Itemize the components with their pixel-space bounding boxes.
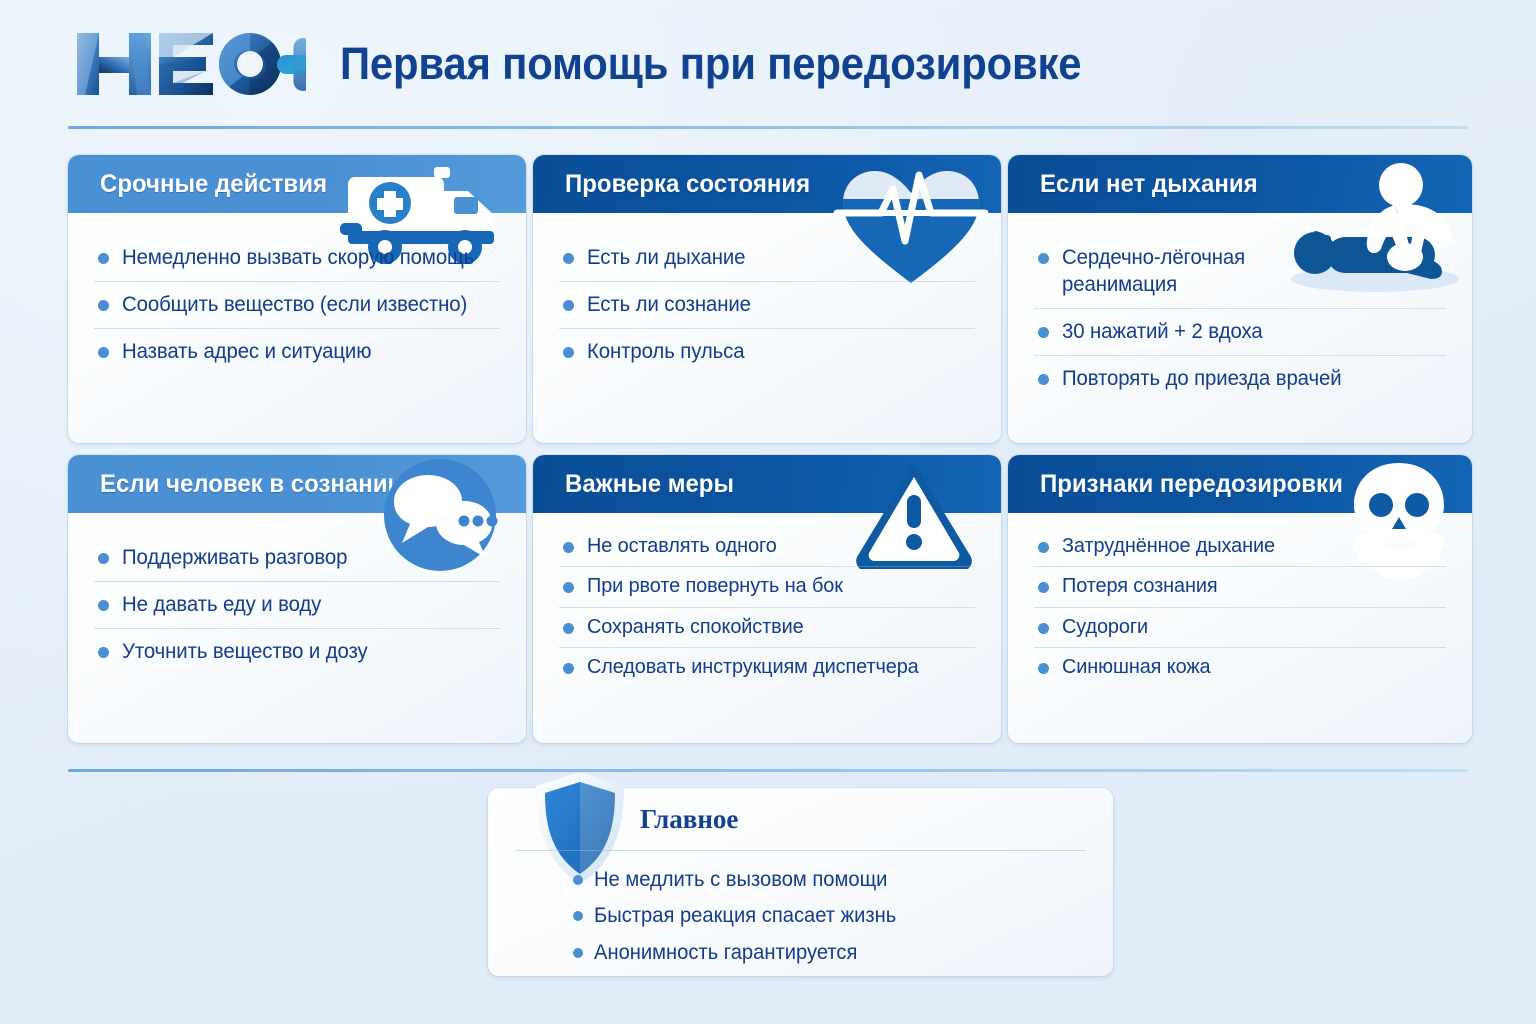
list-item: Следовать инструкциям диспетчера: [559, 648, 975, 687]
card-title: Если человек в сознании: [100, 470, 402, 499]
header-divider: [68, 126, 1468, 129]
list-item: Анонимность гарантируется: [573, 935, 1093, 971]
bullet-icon: [563, 582, 574, 593]
bullet-icon: [563, 542, 574, 553]
list-item: Сохранять спокойствие: [559, 608, 975, 648]
list-item-text: Судороги: [1062, 614, 1148, 640]
card-urgent-actions: Срочные действия: [68, 155, 526, 443]
list-item: Не оставлять одного: [559, 527, 975, 567]
card-status-check: Проверка состояния Есть ли дыхание Есть …: [533, 155, 1001, 443]
bullet-icon: [573, 911, 583, 921]
bullet-icon: [98, 347, 109, 358]
bullet-icon: [563, 300, 574, 311]
card-title: Если нет дыхания: [1040, 170, 1258, 199]
list-item-text: Повторять до приезда врачей: [1062, 365, 1342, 392]
list-item-text: Уточнить вещество и дозу: [122, 638, 368, 665]
bullet-icon: [563, 663, 574, 674]
bullet-icon: [98, 253, 109, 264]
bullet-icon: [563, 253, 574, 264]
card-body: Сердечно-лёгочная реанимация 30 нажатий …: [1008, 213, 1472, 412]
bullet-icon: [98, 553, 109, 564]
list-item: Не медлить с вызовом помощи: [573, 862, 1093, 898]
list-item-text: Анонимность гарантируется: [594, 939, 857, 966]
list-item: Потеря сознания: [1034, 567, 1446, 607]
list-item-text: Следовать инструкциям диспетчера: [587, 654, 919, 680]
card-header: Если человек в сознании: [68, 455, 526, 513]
card-header: Если нет дыхания: [1008, 155, 1472, 213]
card-grid: Срочные действия: [68, 155, 1472, 743]
list-item: Сообщить вещество (если известно): [94, 282, 500, 329]
list-item-text: При рвоте повернуть на бок: [587, 573, 843, 599]
bullet-icon: [573, 948, 583, 958]
page-header: Первая помощь при передозировке: [0, 0, 1536, 128]
heo-plus-logo: [74, 27, 306, 101]
bullet-icon: [1038, 327, 1049, 338]
card-title: Признаки передозировки: [1040, 470, 1343, 499]
list-item: 30 нажатий + 2 вдоха: [1034, 309, 1446, 356]
card-body: Не оставлять одного При рвоте повернуть …: [533, 513, 1001, 698]
card-body: Немедленно вызвать скорую помощь Сообщит…: [68, 213, 526, 385]
list-item-text: Затруднённое дыхание: [1062, 533, 1275, 559]
card-header: Срочные действия: [68, 155, 526, 213]
list-item-text: Есть ли дыхание: [587, 244, 745, 271]
list-item: Назвать адрес и ситуацию: [94, 329, 500, 375]
bullet-icon: [98, 647, 109, 658]
list-item-text: Есть ли сознание: [587, 291, 751, 318]
card-header: Признаки передозировки: [1008, 455, 1472, 513]
summary-panel: Главное Не медлить с вызовом помощи Быст…: [488, 788, 1113, 976]
list-item-text: Сообщить вещество (если известно): [122, 291, 467, 318]
list-item: Судороги: [1034, 608, 1446, 648]
card-body: Есть ли дыхание Есть ли сознание Контрол…: [533, 213, 1001, 385]
list-item: При рвоте повернуть на бок: [559, 567, 975, 607]
list-item-text: Не давать еду и воду: [122, 591, 321, 618]
list-item-text: Потеря сознания: [1062, 573, 1218, 599]
bullet-icon: [98, 600, 109, 611]
bullet-icon: [563, 347, 574, 358]
bullet-icon: [1038, 623, 1049, 634]
card-overdose-signs: Признаки передозировки Затруднённое дыха…: [1008, 455, 1472, 743]
summary-list: Не медлить с вызовом помощи Быстрая реак…: [573, 862, 1093, 971]
bullet-icon: [573, 875, 583, 885]
bullet-icon: [1038, 542, 1049, 553]
list-item-text: Сохранять спокойствие: [587, 614, 804, 640]
list-item: Есть ли дыхание: [559, 235, 975, 282]
list-item: Сердечно-лёгочная реанимация: [1034, 235, 1446, 309]
list-item-text: Поддерживать разговор: [122, 544, 347, 571]
list-item-text: Не оставлять одного: [587, 533, 777, 559]
card-important-measures: Важные меры Не оставлять одного При рвот…: [533, 455, 1001, 743]
list-item-text: Назвать адрес и ситуацию: [122, 338, 371, 365]
list-item: Повторять до приезда врачей: [1034, 356, 1446, 402]
summary-divider: [516, 850, 1086, 851]
list-item-text: Контроль пульса: [587, 338, 744, 365]
card-no-breathing: Если нет дыхания: [1008, 155, 1472, 443]
list-item: Синюшная кожа: [1034, 648, 1446, 687]
card-header: Проверка состояния: [533, 155, 1001, 213]
card-header: Важные меры: [533, 455, 1001, 513]
list-item-text: Синюшная кожа: [1062, 654, 1211, 680]
card-body: Поддерживать разговор Не давать еду и во…: [68, 513, 526, 685]
bullet-icon: [98, 300, 109, 311]
card-conscious-person: Если человек в сознании Поддерживать раз…: [68, 455, 526, 743]
page-title: Первая помощь при передозировке: [340, 38, 1081, 90]
summary-title: Главное: [640, 804, 738, 835]
list-item: Есть ли сознание: [559, 282, 975, 329]
list-item-text: Быстрая реакция спасает жизнь: [594, 902, 896, 929]
list-item-text: Сердечно-лёгочная реанимация: [1062, 244, 1290, 298]
list-item-text: 30 нажатий + 2 вдоха: [1062, 318, 1263, 345]
bullet-icon: [1038, 253, 1049, 264]
list-item: Немедленно вызвать скорую помощь: [94, 235, 500, 282]
list-item: Контроль пульса: [559, 329, 975, 375]
list-item: Быстрая реакция спасает жизнь: [573, 898, 1093, 934]
list-item-text: Не медлить с вызовом помощи: [594, 866, 887, 893]
card-title: Важные меры: [565, 470, 734, 499]
bullet-icon: [1038, 374, 1049, 385]
card-title: Срочные действия: [100, 170, 327, 199]
card-body: Затруднённое дыхание Потеря сознания Суд…: [1008, 513, 1472, 698]
list-item: Уточнить вещество и дозу: [94, 629, 500, 675]
list-item-text: Немедленно вызвать скорую помощь: [122, 244, 474, 271]
bullet-icon: [563, 623, 574, 634]
card-title: Проверка состояния: [565, 170, 810, 199]
bullet-icon: [1038, 582, 1049, 593]
footer-divider: [68, 769, 1468, 772]
list-item: Затруднённое дыхание: [1034, 527, 1446, 567]
list-item: Не давать еду и воду: [94, 582, 500, 629]
list-item: Поддерживать разговор: [94, 535, 500, 582]
bullet-icon: [1038, 663, 1049, 674]
